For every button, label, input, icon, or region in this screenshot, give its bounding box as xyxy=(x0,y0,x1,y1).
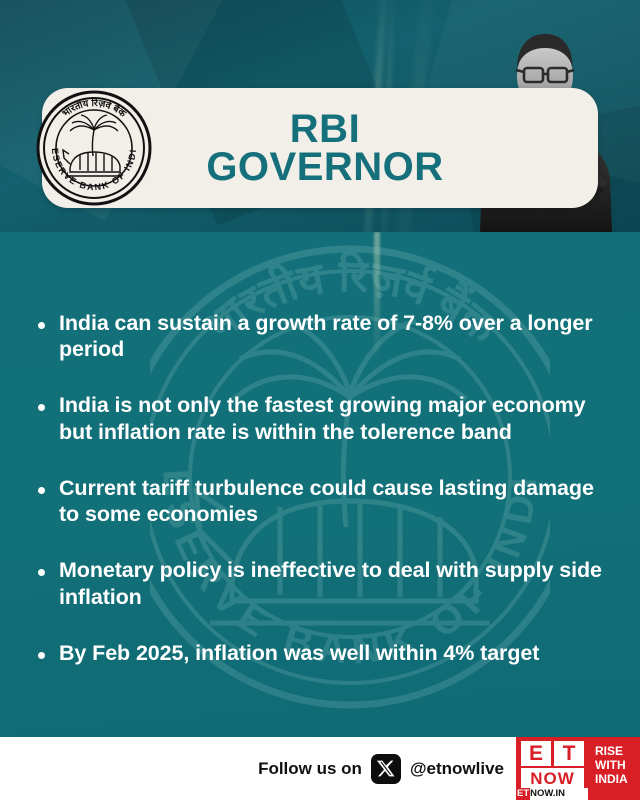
bullet-text: Current tariff turbulence could cause la… xyxy=(59,475,614,527)
page-title: RBI GOVERNOR xyxy=(200,88,450,208)
tagline-line-2: WITH xyxy=(595,758,640,772)
title-line-2: GOVERNOR xyxy=(206,148,443,186)
bullet-text: India is not only the fastest growing ma… xyxy=(59,392,614,444)
bullet-dot-icon xyxy=(38,487,45,494)
tagline-line-3: INDIA xyxy=(595,772,640,786)
etnow-tagline: RISE WITH INDIA xyxy=(588,737,640,800)
list-item: India is not only the fastest growing ma… xyxy=(30,392,614,444)
bullet-dot-icon xyxy=(38,404,45,411)
list-item: Monetary policy is ineffective to deal w… xyxy=(30,557,614,609)
logo-word-now: NOW xyxy=(521,768,584,790)
rbi-governor-news-card: भारतीय रिज़र्व बैंक RESERVE BANK OF INDI… xyxy=(0,0,640,800)
footer-bar: Follow us on @etnowlive E T NOW RISE WIT… xyxy=(0,737,640,800)
title-line-1: RBI xyxy=(290,110,360,148)
bullet-text: By Feb 2025, inflation was well within 4… xyxy=(59,640,614,666)
etnow-et-row: E T xyxy=(521,741,584,766)
logo-letter-t: T xyxy=(554,741,584,766)
bullet-dot-icon xyxy=(38,569,45,576)
etnow-website: ET NOW.IN xyxy=(516,788,588,800)
bullet-text: India can sustain a growth rate of 7-8% … xyxy=(59,310,614,362)
social-handle[interactable]: @etnowlive xyxy=(410,759,504,779)
bullet-list: India can sustain a growth rate of 7-8% … xyxy=(0,232,640,737)
x-twitter-icon[interactable] xyxy=(371,754,401,784)
website-name: NOW.IN xyxy=(530,788,565,800)
rbi-seal-icon: भारतीय रिज़र्व बैंक RESERVE BANK OF INDI… xyxy=(36,90,152,206)
tagline-line-1: RISE xyxy=(595,744,640,758)
logo-letter-e: E xyxy=(521,741,551,766)
list-item: Current tariff turbulence could cause la… xyxy=(30,475,614,527)
follow-label: Follow us on xyxy=(258,759,362,779)
etnow-logo[interactable]: E T NOW RISE WITH INDIA ET NOW.IN xyxy=(516,737,640,800)
list-item: India can sustain a growth rate of 7-8% … xyxy=(30,310,614,362)
website-prefix: ET xyxy=(516,788,530,800)
bullet-text: Monetary policy is ineffective to deal w… xyxy=(59,557,614,609)
follow-us-group: Follow us on @etnowlive xyxy=(258,754,504,784)
bullet-dot-icon xyxy=(38,322,45,329)
list-item: By Feb 2025, inflation was well within 4… xyxy=(30,640,614,666)
bullet-dot-icon xyxy=(38,652,45,659)
